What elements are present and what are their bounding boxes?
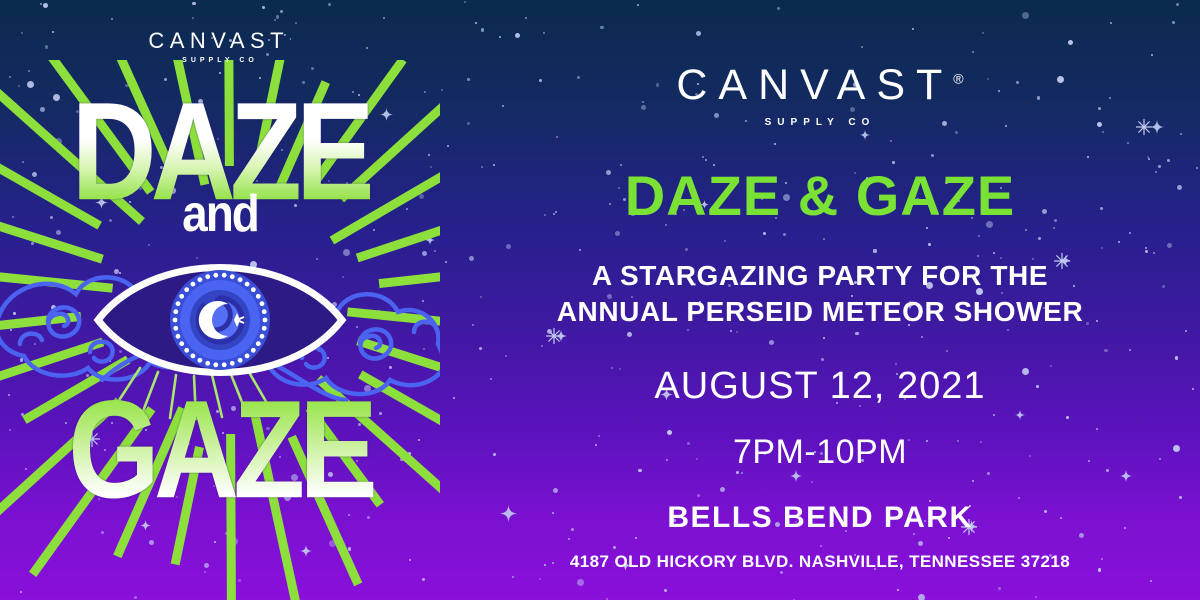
iris-dot <box>251 287 256 292</box>
iris-dot <box>245 354 250 359</box>
iris-dot <box>263 318 268 323</box>
iris-dot <box>173 309 178 314</box>
iris-dot <box>179 341 184 346</box>
iris-dot <box>262 309 267 314</box>
event-subhead-line2: ANNUAL PERSEID METEOR SHOWER <box>557 294 1084 330</box>
iris-dot <box>230 361 235 366</box>
iris-dot <box>222 273 227 278</box>
brand-logo: CANVAST® SUPPLY CO <box>676 64 963 128</box>
iris-dot <box>238 277 243 282</box>
event-venue: BELLS BEND PARK <box>667 503 972 533</box>
artwork-word-and: and <box>0 183 440 243</box>
registered-mark-icon: ® <box>953 71 963 87</box>
iris-dot <box>198 277 203 282</box>
iris-dot <box>173 326 178 331</box>
iris-dot <box>184 287 189 292</box>
iris-dot <box>245 282 250 287</box>
event-address: 4187 OLD HICKORY BLVD. NASHVILLE, TENNES… <box>570 553 1070 570</box>
iris-dot <box>260 334 265 339</box>
iris-dot <box>230 274 235 279</box>
artwork-word-gaze: GAZE <box>0 370 440 530</box>
event-date: AUGUST 12, 2021 <box>654 367 985 405</box>
iris-dot <box>191 282 196 287</box>
iris-dot <box>179 294 184 299</box>
iris-dot <box>191 354 196 359</box>
iris-dot <box>256 294 261 299</box>
iris-dot <box>222 362 227 367</box>
iris-dot <box>176 334 181 339</box>
iris-dot <box>256 341 261 346</box>
brand-tagline: SUPPLY CO <box>676 117 963 128</box>
artwork-brand-logo: CANVAST. SUPPLY CO <box>0 30 440 64</box>
iris-dot <box>176 301 181 306</box>
artwork-panel: CANVAST. SUPPLY CO DAZE and <box>0 0 440 600</box>
artwork-tagline: SUPPLY CO <box>0 57 440 64</box>
event-subhead: A STARGAZING PARTY FOR THE ANNUAL PERSEI… <box>557 258 1084 331</box>
iris-dot <box>205 274 210 279</box>
iris-dot <box>205 361 210 366</box>
event-subhead-line1: A STARGAZING PARTY FOR THE <box>557 258 1084 294</box>
event-info-panel: CANVAST® SUPPLY CO DAZE & GAZE A STARGAZ… <box>440 0 1200 600</box>
artwork-wordmark: CANVAST. <box>0 30 440 52</box>
event-poster: CANVAST. SUPPLY CO DAZE and <box>0 0 1200 600</box>
iris-dot <box>213 273 218 278</box>
event-time: 7PM-10PM <box>733 435 907 469</box>
event-headline: DAZE & GAZE <box>625 168 1016 224</box>
iris-dot <box>251 348 256 353</box>
registered-mark-icon: . <box>289 32 292 42</box>
iris-dot <box>260 301 265 306</box>
iris-dot <box>262 326 267 331</box>
iris-dot <box>213 362 218 367</box>
iris-dot <box>184 348 189 353</box>
iris-dot <box>238 358 243 363</box>
brand-wordmark: CANVAST® <box>676 64 963 107</box>
iris-dot <box>173 318 178 323</box>
iris-dot <box>198 358 203 363</box>
